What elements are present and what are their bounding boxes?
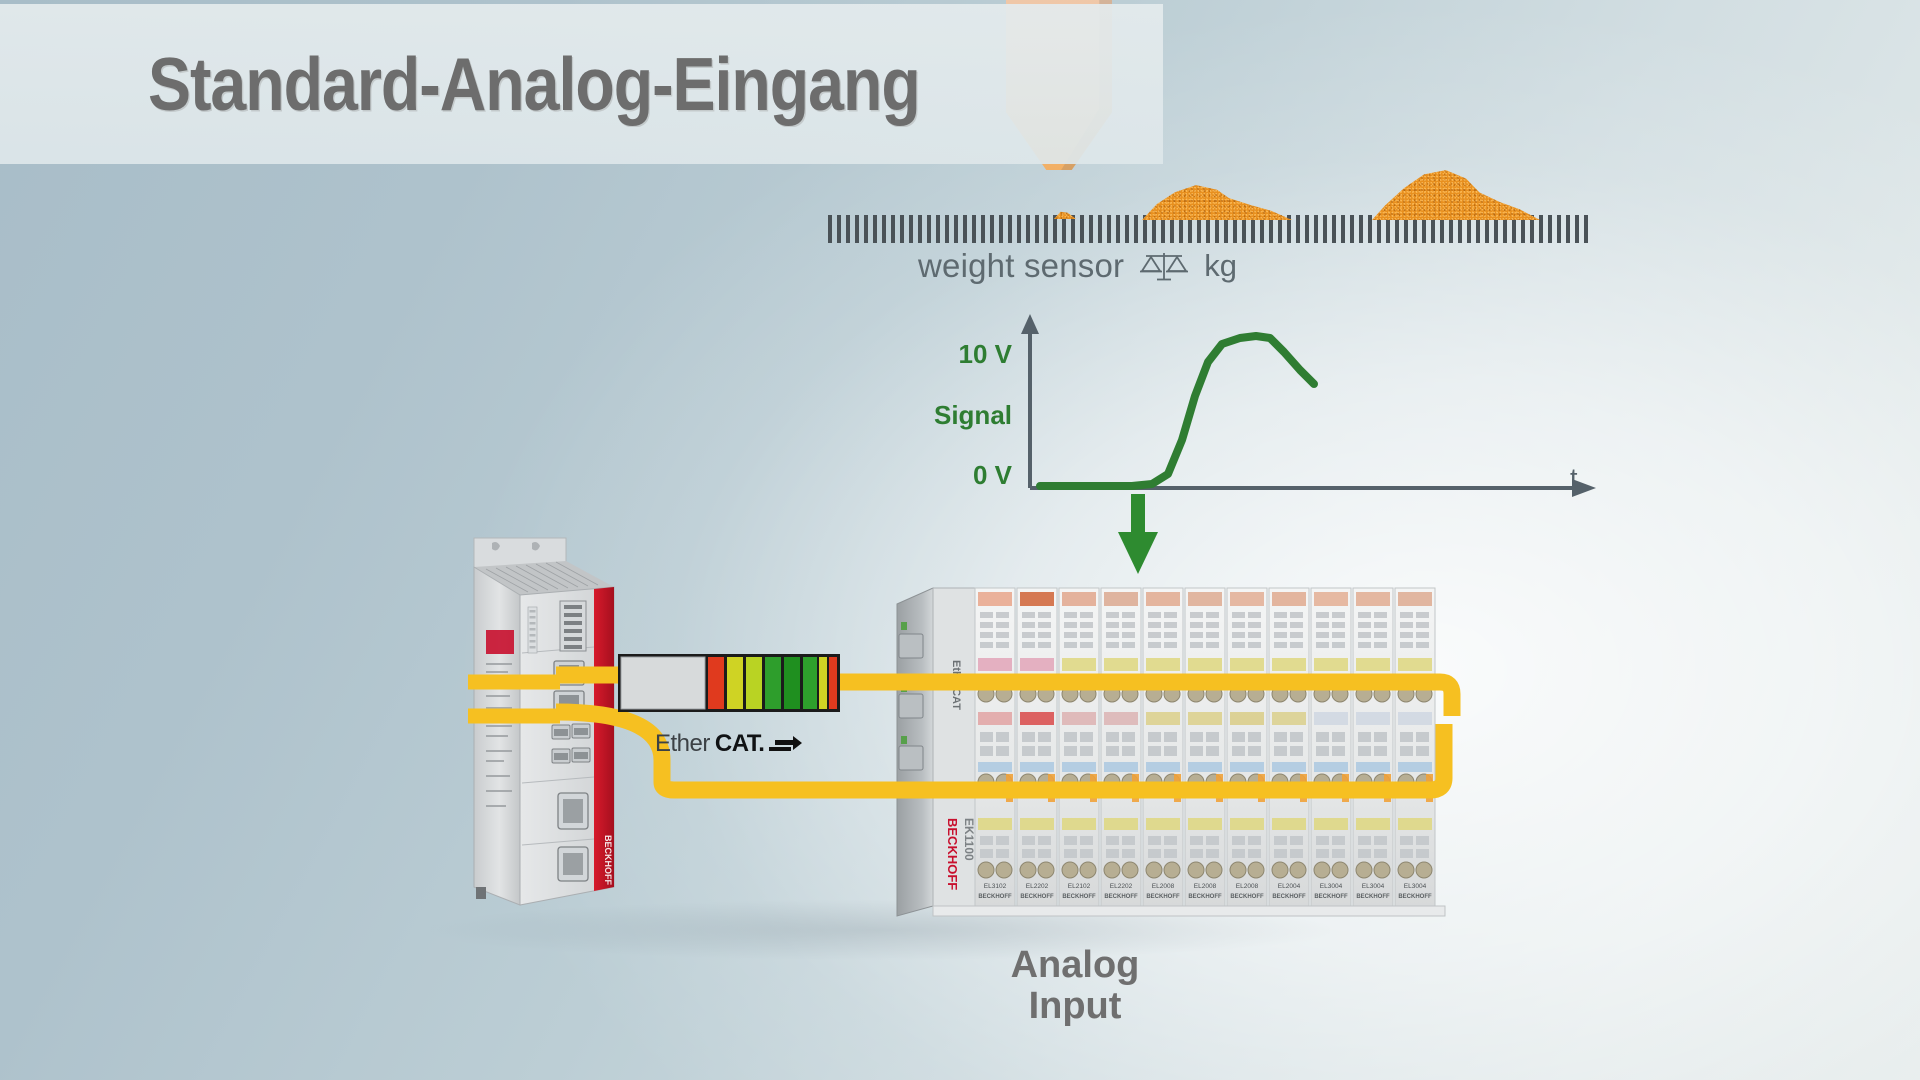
terminal-module[interactable]: EL2102BECKHOFF [1059, 588, 1099, 906]
terminal-brand-label: BECKHOFF [978, 894, 1012, 900]
ethercat-bargraph [618, 652, 840, 714]
terminal-module[interactable]: EL2202BECKHOFF [1101, 588, 1141, 906]
axis-label-time: t [1570, 463, 1578, 494]
ipc-foot-left [476, 887, 486, 899]
terminal-model-label: EL3004 [1404, 883, 1427, 890]
terminal-brand-label: BECKHOFF [1188, 894, 1222, 900]
terminal-modules: EL3102BECKHOFFEL2202BECKHOFFEL2102BECKHO… [975, 588, 1435, 906]
ethercat-indicator [618, 652, 840, 719]
ethercat-terminal-block: EtherCAT BECKHOFF EK1100 EL3102BECKHOFFE… [895, 586, 1455, 936]
terminal-brand-label: BECKHOFF [1146, 894, 1180, 900]
terminal-module[interactable]: EL2008BECKHOFF [1143, 588, 1183, 906]
ethercat-arrow-icon [769, 733, 803, 755]
page-title: Standard-Analog-Eingang [148, 41, 920, 127]
axis-tick-10v: 10 V [900, 339, 1012, 370]
caption-line-1: Analog [940, 945, 1210, 986]
ipc-dvi-port[interactable] [558, 793, 588, 829]
signal-curve [1040, 336, 1314, 486]
din-rail [933, 906, 1445, 916]
terminal-brand-label: BECKHOFF [1020, 894, 1054, 900]
terminal-module[interactable]: EL3004BECKHOFF [1353, 588, 1393, 906]
weight-sensor-legend: weight sensor kg [918, 247, 1237, 285]
y-axis-arrowhead [1021, 314, 1039, 334]
terminal-module[interactable]: EL3004BECKHOFF [1395, 588, 1435, 906]
slide-canvas: Standard-Analog-Eingang weight sensor kg… [0, 0, 1920, 1080]
signal-chart: 10 V Signal 0 V [900, 300, 1600, 530]
terminal-model-label: EL2202 [1026, 883, 1049, 890]
weight-unit-label: kg [1204, 248, 1237, 284]
terminal-module[interactable]: EL2004BECKHOFF [1269, 588, 1309, 906]
terminal-module[interactable]: EL3004BECKHOFF [1311, 588, 1351, 906]
terminal-module[interactable]: EL2008BECKHOFF [1185, 588, 1225, 906]
terminal-model-label: EL2008 [1236, 883, 1259, 890]
axis-label-signal: Signal [900, 400, 1012, 431]
terminal-model-label: EL3004 [1362, 883, 1385, 890]
terminal-brand-label: BECKHOFF [1398, 894, 1432, 900]
ethercat-logo-brand: CAT. [715, 730, 765, 758]
terminal-model-label: EL2102 [1068, 883, 1091, 890]
terminal-model-label: EL2008 [1152, 883, 1175, 890]
terminal-model-label: EL2202 [1110, 883, 1133, 890]
signal-down-arrow [1118, 494, 1158, 574]
coupler-logo-ethercat: EtherCAT [950, 660, 962, 710]
ipc-led-strip [528, 607, 537, 653]
terminal-model-label: EL2004 [1278, 883, 1301, 890]
bus-graphic: EtherCAT BECKHOFF EK1100 EL3102BECKHOFFE… [895, 586, 1455, 931]
material-pile-2 [1372, 167, 1540, 220]
axis-tick-0v: 0 V [900, 460, 1012, 491]
diagram-caption: Analog Input [940, 945, 1210, 1027]
balance-scale-icon [1138, 249, 1190, 283]
coupler-model: EK1100 [962, 818, 976, 861]
bargraph-plug [621, 657, 705, 709]
terminal-brand-label: BECKHOFF [1356, 894, 1390, 900]
terminal-brand-label: BECKHOFF [1062, 894, 1096, 900]
industrial-pc: BECKHOFF [466, 535, 676, 930]
terminal-model-label: EL2008 [1194, 883, 1217, 890]
material-pile-1 [1142, 178, 1292, 220]
ipc-graphic: BECKHOFF [466, 535, 676, 925]
bus-coupler-ek1100: EtherCAT BECKHOFF EK1100 [897, 588, 976, 916]
terminal-module[interactable]: EL3102BECKHOFF [975, 588, 1015, 906]
coupler-brand: BECKHOFF [945, 818, 960, 890]
ethercat-logo-prefix: Ether [655, 730, 710, 758]
ipc-serial-port[interactable] [558, 847, 588, 881]
ipc-brand-text: BECKHOFF [603, 835, 613, 885]
terminal-brand-label: BECKHOFF [1314, 894, 1348, 900]
coupler-ethernet-ports[interactable] [899, 634, 923, 770]
ethercat-logo: Ether CAT. [655, 730, 803, 758]
terminal-module[interactable]: EL2008BECKHOFF [1227, 588, 1267, 906]
terminal-brand-label: BECKHOFF [1272, 894, 1306, 900]
terminal-model-label: EL3004 [1320, 883, 1343, 890]
terminal-model-label: EL3102 [984, 883, 1007, 890]
terminal-module[interactable]: EL2202BECKHOFF [1017, 588, 1057, 906]
terminal-brand-label: BECKHOFF [1104, 894, 1138, 900]
terminal-brand-label: BECKHOFF [1230, 894, 1264, 900]
caption-line-2: Input [940, 986, 1210, 1027]
title-banner: Standard-Analog-Eingang [0, 4, 1163, 164]
weight-sensor-label: weight sensor [918, 247, 1124, 285]
